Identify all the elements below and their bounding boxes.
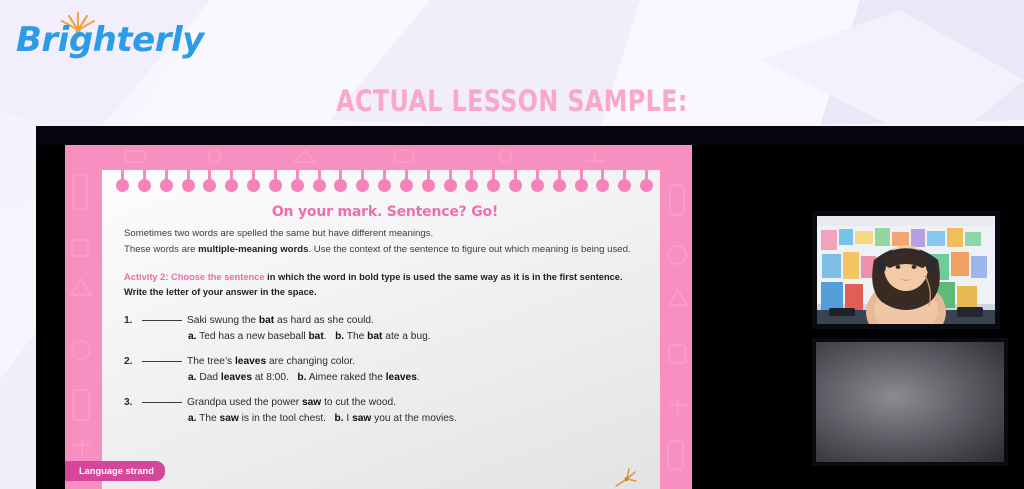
choice-a[interactable]: a. Dad leaves at 8:00.	[188, 370, 289, 385]
choice-target-word: bat	[367, 331, 382, 342]
choice-b[interactable]: b. Aimee raked the leaves.	[297, 370, 419, 385]
question-choices: a. Dad leaves at 8:00. b. Aimee raked th…	[188, 370, 646, 385]
question-item: 2.The tree’s leaves are changing color.a…	[124, 354, 646, 385]
intro-term: multiple-meaning words	[198, 244, 308, 255]
question-number: 1.	[124, 313, 142, 344]
worksheet-page: On your mark. Sentence? Go! Sometimes tw…	[102, 170, 660, 489]
activity-bold-word: bold	[359, 272, 379, 282]
target-word: saw	[302, 397, 321, 408]
activity-label: Activity 2: Choose the sentence	[124, 272, 265, 282]
question-body: Saki swung the bat as hard as she could.…	[142, 313, 646, 344]
question-stem: Grandpa used the power saw to cut the wo…	[142, 395, 646, 410]
question-choices: a. The saw is in the tool chest. b. I sa…	[188, 411, 646, 426]
dim-video-placeholder	[816, 342, 1004, 462]
choice-target-word: leaves	[221, 372, 252, 383]
choice-a[interactable]: a. The saw is in the tool chest.	[188, 411, 326, 426]
choice-gap	[327, 331, 336, 342]
teacher-webcam-tile[interactable]	[812, 211, 1000, 329]
activity-rest: in which the word in	[265, 272, 360, 282]
choice-target-word: saw	[352, 413, 371, 424]
question-item: 3.Grandpa used the power saw to cut the …	[124, 395, 646, 426]
question-number: 3.	[124, 395, 142, 426]
choice-a[interactable]: a. Ted has a new baseball bat.	[188, 329, 327, 344]
answer-blank[interactable]	[142, 402, 182, 403]
choice-target-word: leaves	[386, 372, 417, 383]
choice-target-word: saw	[220, 413, 239, 424]
choice-b[interactable]: b. I saw you at the movies.	[335, 411, 457, 426]
question-list: 1.Saki swung the bat as hard as she coul…	[124, 313, 646, 426]
question-stem: Saki swung the bat as hard as she could.	[142, 313, 646, 328]
intro-line-2-suffix: . Use the context of the sentence to fig…	[308, 244, 630, 255]
student-video-feed	[816, 342, 1004, 462]
intro-line-2-prefix: These words are	[124, 244, 198, 255]
choice-gap	[326, 413, 335, 424]
worksheet-intro: Sometimes two words are spelled the same…	[124, 226, 646, 257]
teacher-video-feed	[817, 216, 995, 324]
brand-logo[interactable]: Brighterly	[14, 8, 194, 66]
answer-blank[interactable]	[142, 320, 182, 321]
question-item: 1.Saki swung the bat as hard as she coul…	[124, 313, 646, 344]
choice-target-word: bat	[308, 331, 323, 342]
question-stem: The tree’s leaves are changing color.	[142, 354, 646, 369]
page-title: ACTUAL LESSON SAMPLE:	[92, 84, 932, 118]
target-word: leaves	[235, 356, 266, 367]
choice-letter: a.	[188, 413, 197, 424]
spiral-binding	[102, 170, 660, 204]
choice-letter: a.	[188, 372, 197, 383]
choice-letter: b.	[297, 372, 306, 383]
answer-blank[interactable]	[142, 361, 182, 362]
starburst-icon	[612, 465, 638, 489]
worksheet-heading: On your mark. Sentence? Go!	[124, 204, 646, 220]
student-webcam-tile[interactable]	[812, 338, 1008, 466]
question-body: The tree’s leaves are changing color.a. …	[142, 354, 646, 385]
choice-letter: a.	[188, 331, 197, 342]
target-word: bat	[259, 315, 274, 326]
choice-letter: b.	[335, 331, 344, 342]
question-number: 2.	[124, 354, 142, 385]
status-badge: Language strand	[65, 461, 165, 481]
choice-b[interactable]: b. The bat ate a bug.	[335, 329, 431, 344]
shared-worksheet[interactable]: On your mark. Sentence? Go! Sometimes tw…	[65, 145, 692, 489]
question-body: Grandpa used the power saw to cut the wo…	[142, 395, 646, 426]
choice-gap	[289, 372, 298, 383]
choice-letter: b.	[335, 413, 344, 424]
intro-line-1: Sometimes two words are spelled the same…	[124, 228, 433, 239]
activity-instructions: Activity 2: Choose the sentence in which…	[124, 270, 646, 299]
brand-name: Brighterly	[16, 20, 204, 60]
question-choices: a. Ted has a new baseball bat. b. The ba…	[188, 329, 646, 344]
